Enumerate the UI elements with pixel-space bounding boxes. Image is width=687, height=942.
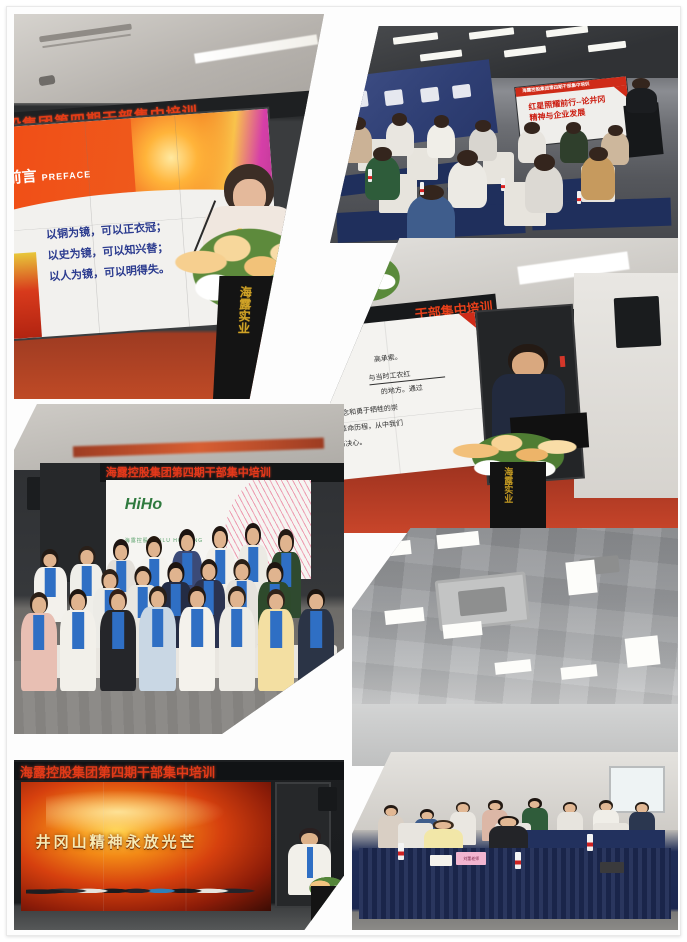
group-member-seated [258,589,294,691]
speaker-box-icon [614,296,662,348]
water-bottle [587,834,593,851]
video-wall-bezel-grid [21,782,272,911]
notebook [600,862,624,873]
wall-logo-block [452,84,471,99]
ceiling [14,14,324,103]
water-bottle [515,852,521,869]
water-bottle [368,169,372,182]
photo-ceiling-room[interactable] [352,528,678,766]
slide-title: 红星照耀前行--论井冈 精神与企业发展 [528,94,621,125]
water-bottle [501,178,505,191]
attendee [581,156,616,199]
ceiling [14,404,344,470]
wall-banner-text: 海露控股集团第四期干部集中培训 [106,464,271,480]
wall-logo-block [420,87,440,103]
photo-classroom-wide[interactable]: 海露控股集团第四期干部集中培训 红星照耀前行--论井冈 精神与企业发展 [330,26,678,243]
company-logo: HiHo [125,496,162,514]
group-member-seated [139,586,175,692]
water-bottle [420,182,424,195]
attendee [560,130,588,163]
presentation-screen: 井冈山精神永放光芒 [21,782,272,911]
group-member-seated [60,589,96,691]
attendee-foreground [407,195,456,243]
water-bottle [577,191,581,204]
lectern: 海露实业 [490,462,546,533]
lectern-sign-text: 海露实业 [502,467,512,503]
presenter-body [626,88,657,112]
attendee [525,165,563,213]
attendee [427,124,455,159]
photo-collage: 股集团第四期干部集中培训 前言 PREFACE 以铜为镜，可以正衣冠； 以史为镜… [0,0,687,942]
photo-male-speaker[interactable]: 干部集中培训 高承索。 与当时工农红 的地方。通过 的理想信念和勇于牺牲的崇 先… [330,238,678,533]
ceiling-red-glow [73,438,324,457]
presenter-figure [626,78,657,113]
air-conditioner-icon [434,571,530,631]
ceiling-light [624,636,659,668]
group-member-seated [100,589,136,691]
ceiling-light [565,560,598,596]
wall-banner: 海露控股集团第四期干部集中培训 [14,762,344,781]
attendee [448,161,486,209]
water-bottle [398,843,404,860]
group-member-seated [219,586,255,692]
photo-audience-notes[interactable]: 刘董老师 [352,752,678,930]
name-card-text: 刘董老师 [456,852,486,865]
group-member-seated [179,586,215,692]
wall-banner: 海露控股集团第四期干部集中培训 [100,463,344,481]
group-member-seated [21,592,57,691]
name-card: 刘董老师 [456,852,486,865]
notebook [430,855,452,866]
speaker-box-icon [318,787,338,811]
wall-logo-block [384,90,404,107]
wall-banner-text: 海露控股集团第四期干部集中培训 [20,762,215,781]
photo-red-slide-lecture[interactable]: 海露控股集团第四期干部集中培训 井冈山精神永放光芒 [14,760,344,930]
lectern-sign-text: 海露实业 [235,286,251,334]
